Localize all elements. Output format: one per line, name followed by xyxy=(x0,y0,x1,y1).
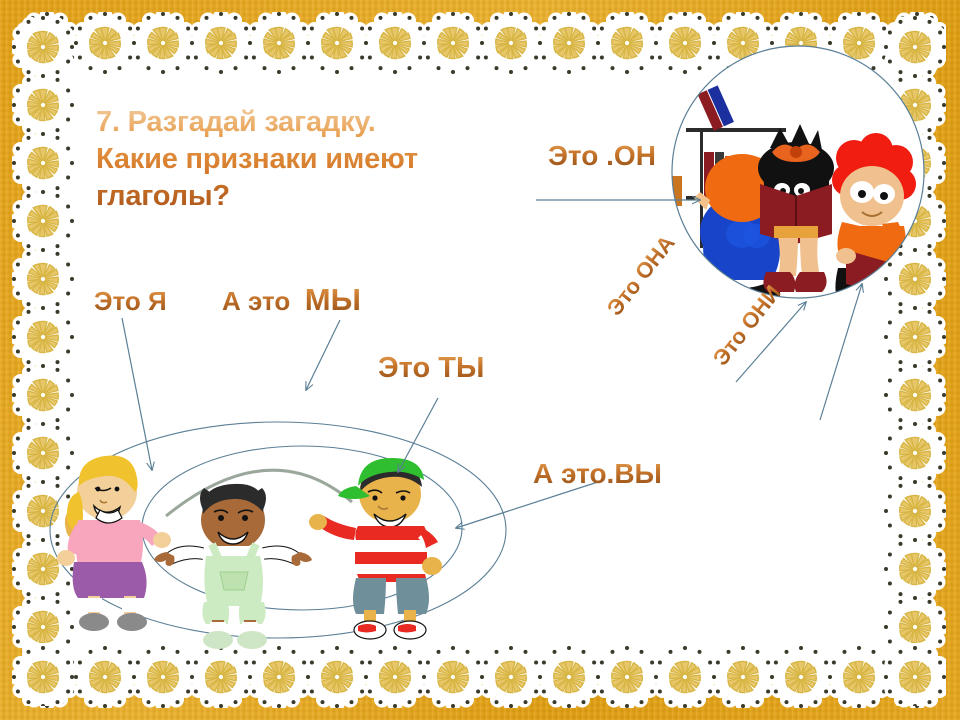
label-ya: Это Я xyxy=(94,286,167,317)
label-my-word: МЫ xyxy=(305,282,361,317)
label-ty: Это ТЫ xyxy=(378,352,484,385)
title-line-2: Какие признаки имеют xyxy=(96,141,556,178)
page-title: 7. Разгадай загадку. Какие признаки имею… xyxy=(96,104,556,214)
title-line-1: 7. Разгадай загадку. xyxy=(96,104,556,141)
title-line-3: глаголы? xyxy=(96,178,556,215)
label-vy: А это.ВЫ xyxy=(533,458,662,490)
label-my-prefix: А это xyxy=(222,286,290,316)
label-my: А это МЫ xyxy=(222,282,361,318)
label-on: Это .ОН xyxy=(548,140,656,172)
slide-canvas: 7. Разгадай загадку. Какие признаки имею… xyxy=(0,0,960,720)
